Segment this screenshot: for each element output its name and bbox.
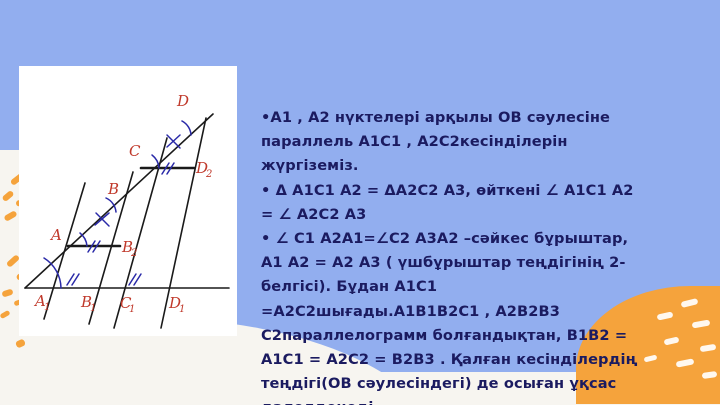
angle-arc-a <box>80 233 87 246</box>
geometry-figure-panel: A B C D B 2 D 2 A 1 B 1 C 1 D 1 <box>19 66 237 336</box>
angle-arc-b <box>106 198 116 212</box>
oblique-ray-line <box>25 114 213 288</box>
text-line: белгісі). Бұдан А1С1 <box>261 275 711 299</box>
lesson-proof-text: •A1 , A2 нүктелері арқылы ОВ сәулесіне п… <box>261 106 711 405</box>
text-line: •A1 , A2 нүктелері арқылы ОВ сәулесіне <box>261 106 711 130</box>
transversal-line-1 <box>44 183 85 319</box>
text-line: А1С1 = А2С2 = В2В3 . Қалған кесінділерді… <box>261 348 711 372</box>
text-line: параллель А1С1 , А2С2кесінділерін <box>261 130 711 154</box>
text-line: А1 А2 = А2 А3 ( үшбұрыштар теңдігінің 2- <box>261 251 711 275</box>
text-line: С2параллелограмм болғандықтан, В1В2 = <box>261 324 711 348</box>
figure-label-A1-sub: 1 <box>44 302 50 313</box>
figure-label-C: C <box>129 142 141 160</box>
text-line: дәлелденеді. <box>261 396 711 405</box>
slide: A B C D B 2 D 2 A 1 B 1 C 1 D 1 •A1 , A2… <box>0 0 720 405</box>
text-line: • ∠ С1 А2А1=∠С2 А3А2 –сәйкес бұрыштар, <box>261 227 711 251</box>
text-line: жүргіземіз. <box>261 154 711 178</box>
figure-label-B1-sub: 1 <box>90 303 96 314</box>
text-line: =А2С2шығады.А1В1В2С1 , А2В2В3 <box>261 300 711 324</box>
geometry-diagram: A B C D B 2 D 2 A 1 B 1 C 1 D 1 <box>19 66 237 336</box>
angle-arc-d <box>182 121 191 135</box>
text-line: • Δ А1С1 А2 = ΔА2С2 А3, өйткені ∠ А1С1 А… <box>261 179 711 203</box>
figure-label-C1-sub: 1 <box>129 304 135 315</box>
angle-arc-c <box>152 155 159 168</box>
transversal-line-4 <box>161 118 206 328</box>
figure-label-B2-sub: 2 <box>130 248 137 259</box>
figure-label-D1-sub: 1 <box>179 304 185 315</box>
figure-label-A: A <box>49 226 62 244</box>
figure-label-D: D <box>176 92 189 110</box>
figure-label-B: B <box>107 180 119 198</box>
text-line: теңдігі(ОВ сәулесіндегі) де осыған ұқсас <box>261 372 711 396</box>
figure-label-D2-sub: 2 <box>205 169 212 180</box>
text-line: = ∠ А2С2 А3 <box>261 203 711 227</box>
